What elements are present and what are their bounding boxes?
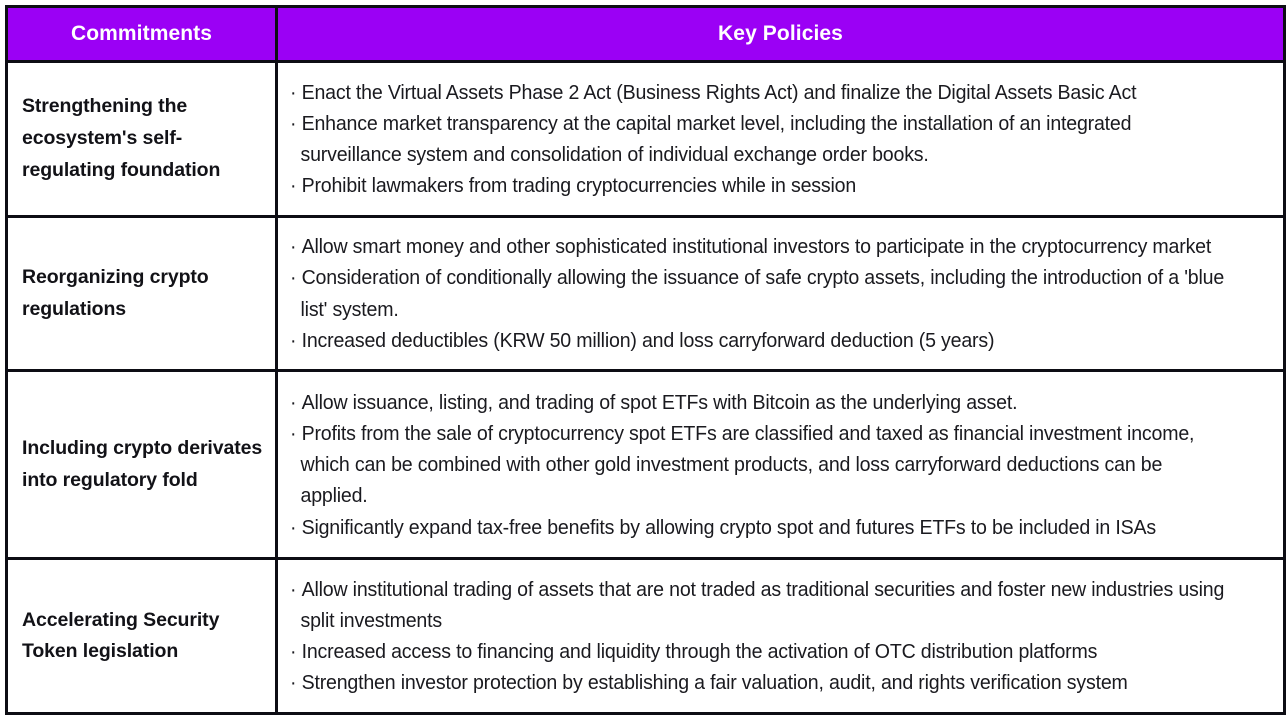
policy-item: Allow smart money and other sophisticate… [290,231,1227,262]
policy-item: Consideration of conditionally allowing … [290,262,1227,324]
policy-item: Enact the Virtual Assets Phase 2 Act (Bu… [290,77,1227,108]
table-row: Accelerating Security Token legislation … [7,559,1285,714]
policy-item: Increased access to financing and liquid… [290,636,1227,667]
table-row: Including crypto derivates into regulato… [7,371,1285,559]
table-row: Strengthening the ecosystem's self-regul… [7,62,1285,217]
policy-item: Increased deductibles (KRW 50 million) a… [290,325,1227,356]
commitment-cell: Strengthening the ecosystem's self-regul… [7,62,277,217]
policy-item: Enhance market transparency at the capit… [290,108,1227,170]
policies-cell: Allow institutional trading of assets th… [277,559,1285,714]
policy-list: Allow institutional trading of assets th… [290,574,1271,699]
policies-cell: Enact the Virtual Assets Phase 2 Act (Bu… [277,62,1285,217]
policies-cell: Allow smart money and other sophisticate… [277,216,1285,371]
policies-cell: Allow issuance, listing, and trading of … [277,371,1285,559]
commitment-cell: Reorganizing crypto regulations [7,216,277,371]
policy-table-container: Commitments Key Policies Strengthening t… [0,0,1288,718]
header-key-policies: Key Policies [277,7,1285,62]
commitment-cell: Including crypto derivates into regulato… [7,371,277,559]
commitments-key-policies-table: Commitments Key Policies Strengthening t… [5,5,1286,715]
policy-list: Allow smart money and other sophisticate… [290,231,1271,356]
header-row: Commitments Key Policies [7,7,1285,62]
policy-list: Enact the Virtual Assets Phase 2 Act (Bu… [290,77,1271,202]
policy-list: Allow issuance, listing, and trading of … [290,387,1271,543]
policy-item: Prohibit lawmakers from trading cryptocu… [290,170,1227,201]
policy-item: Allow issuance, listing, and trading of … [290,387,1227,418]
table-row: Reorganizing crypto regulations Allow sm… [7,216,1285,371]
commitment-cell: Accelerating Security Token legislation [7,559,277,714]
policy-item: Significantly expand tax-free benefits b… [290,512,1227,543]
policy-item: Profits from the sale of cryptocurrency … [290,418,1227,511]
table-header: Commitments Key Policies [7,7,1285,62]
policy-item: Strengthen investor protection by establ… [290,667,1227,698]
policy-item: Allow institutional trading of assets th… [290,574,1227,636]
header-commitments: Commitments [7,7,277,62]
table-body: Strengthening the ecosystem's self-regul… [7,62,1285,714]
